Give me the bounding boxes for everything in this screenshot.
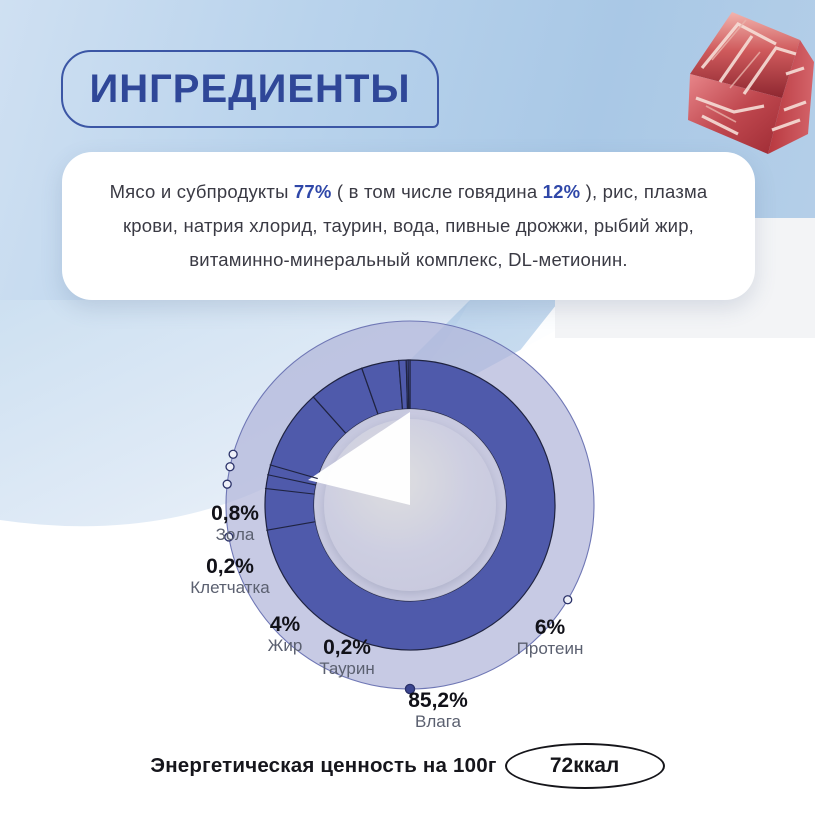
chart-label-zola: 0,8% Зола	[180, 502, 290, 544]
energy-value-row: Энергетическая ценность на 100г 72ккал	[0, 735, 815, 797]
page-title-pill: ИНГРЕДИЕНТЫ	[61, 50, 439, 128]
ingredients-seg-1: 77%	[294, 181, 332, 202]
donut-slice-таурин	[408, 360, 410, 409]
chart-label-vlaga: 85,2% Влага	[383, 689, 493, 731]
chart-label-taurin-name: Таурин	[292, 659, 402, 678]
ingredients-seg-2: ( в том числе говядина	[332, 181, 543, 202]
page-title: ИНГРЕДИЕНТЫ	[89, 67, 410, 112]
ingredients-seg-0: Мясо и субпродукты	[110, 181, 294, 202]
beef-cube-image	[672, 2, 815, 162]
ingredients-card: Мясо и субпродукты 77% ( в том числе гов…	[62, 152, 755, 300]
chart-label-taurin-value: 0,2%	[292, 636, 402, 659]
energy-value-label: Энергетическая ценность на 100г	[150, 754, 496, 778]
chart-label-vlaga-name: Влага	[383, 712, 493, 731]
kcal-value: 72ккал	[550, 754, 619, 778]
label-marker-2	[226, 463, 234, 471]
chart-label-protein: 6% Протеин	[490, 616, 610, 658]
chart-label-taurin: 0,2% Таурин	[292, 636, 402, 678]
chart-label-kletchatka-name: Клетчатка	[160, 578, 300, 597]
label-marker-1	[223, 480, 231, 488]
donut-chart-svg	[0, 300, 815, 740]
chart-label-vlaga-value: 85,2%	[383, 689, 493, 712]
chart-label-zola-value: 0,8%	[180, 502, 290, 525]
composition-donut-chart: 0,8% Зола 0,2% Клетчатка 4% Жир 0,2% Тау…	[0, 300, 815, 740]
chart-label-kletchatka: 0,2% Клетчатка	[160, 555, 300, 597]
label-marker-3	[229, 450, 237, 458]
kcal-badge: 72ккал	[505, 743, 665, 789]
chart-label-protein-name: Протеин	[490, 639, 610, 658]
chart-label-protein-value: 6%	[490, 616, 610, 639]
ingredients-seg-3: 12%	[543, 181, 581, 202]
chart-label-kletchatka-value: 0,2%	[160, 555, 300, 578]
label-marker-5	[564, 596, 572, 604]
chart-label-zola-name: Зола	[180, 525, 290, 544]
chart-label-zhir-value: 4%	[240, 613, 330, 636]
ingredients-text: Мясо и субпродукты 77% ( в том числе гов…	[96, 175, 721, 277]
